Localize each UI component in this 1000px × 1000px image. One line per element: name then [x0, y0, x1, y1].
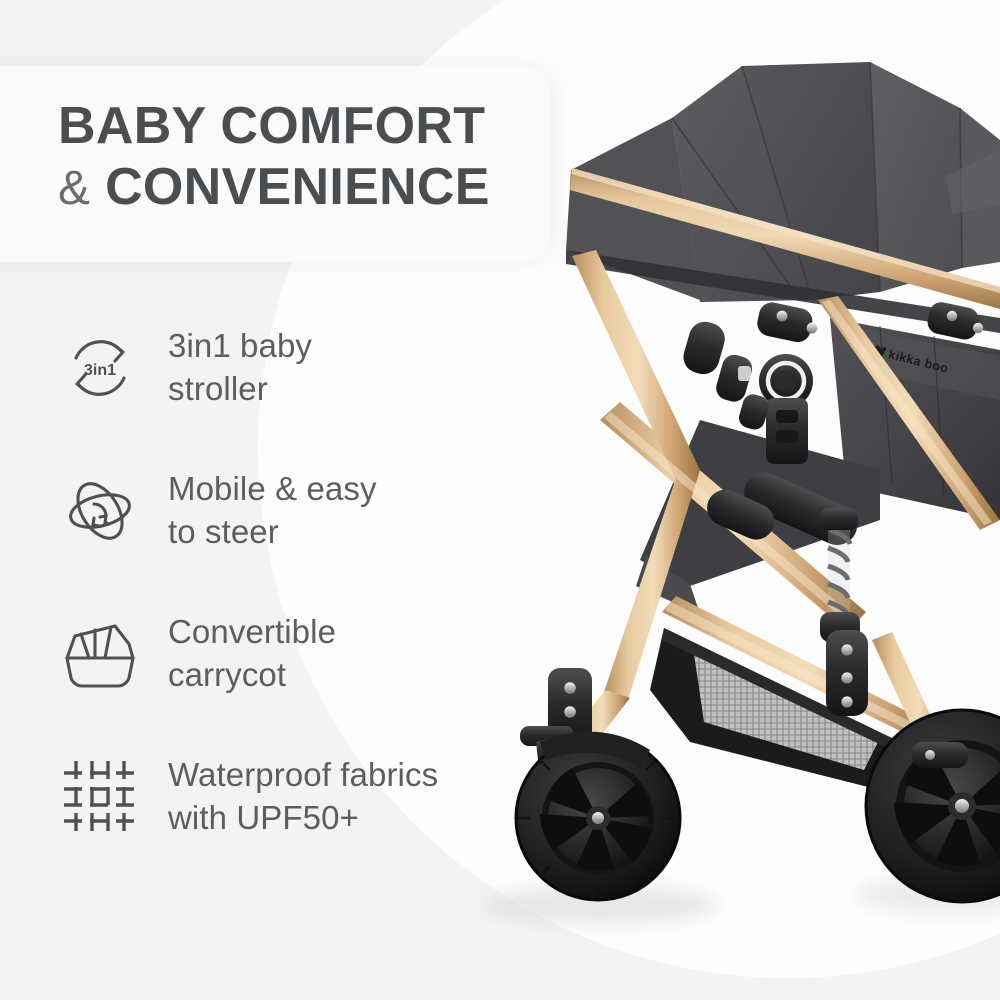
three-in-one-circular-arrows-icon: 3in1	[58, 326, 142, 410]
swivel-rotation-icon	[58, 469, 142, 553]
suspension-spring	[820, 508, 860, 642]
woven-fabric-icon	[58, 755, 142, 839]
feature-label-waterproof: Waterproof fabrics with UPF50+	[168, 754, 438, 838]
page-title: BABY COMFORT & CONVENIENCE	[58, 96, 578, 219]
rear-axle-bracket	[912, 742, 968, 768]
carrycot-icon	[58, 612, 142, 696]
title-ampersand: &	[58, 162, 90, 215]
title-line-1: BABY COMFORT	[58, 97, 485, 155]
feature-item-3in1: 3in1 3in1 baby stroller	[58, 296, 528, 439]
harness-buckle	[680, 318, 771, 432]
title-line-2: CONVENIENCE	[105, 158, 490, 216]
feature-label-3in1: 3in1 baby stroller	[168, 325, 312, 409]
feature-label-carrycot: Convertible carrycot	[168, 611, 336, 695]
feature-list: 3in1 3in1 baby stroller Mobile & easy to…	[58, 296, 528, 868]
feature-item-steering: Mobile & easy to steer	[58, 439, 528, 582]
feature-item-waterproof: Waterproof fabrics with UPF50+	[58, 725, 528, 868]
feature-label-steering: Mobile & easy to steer	[168, 468, 377, 552]
rear-bracket	[826, 630, 868, 716]
feature-item-carrycot: Convertible carrycot	[58, 582, 528, 725]
svg-text:3in1: 3in1	[84, 362, 116, 379]
